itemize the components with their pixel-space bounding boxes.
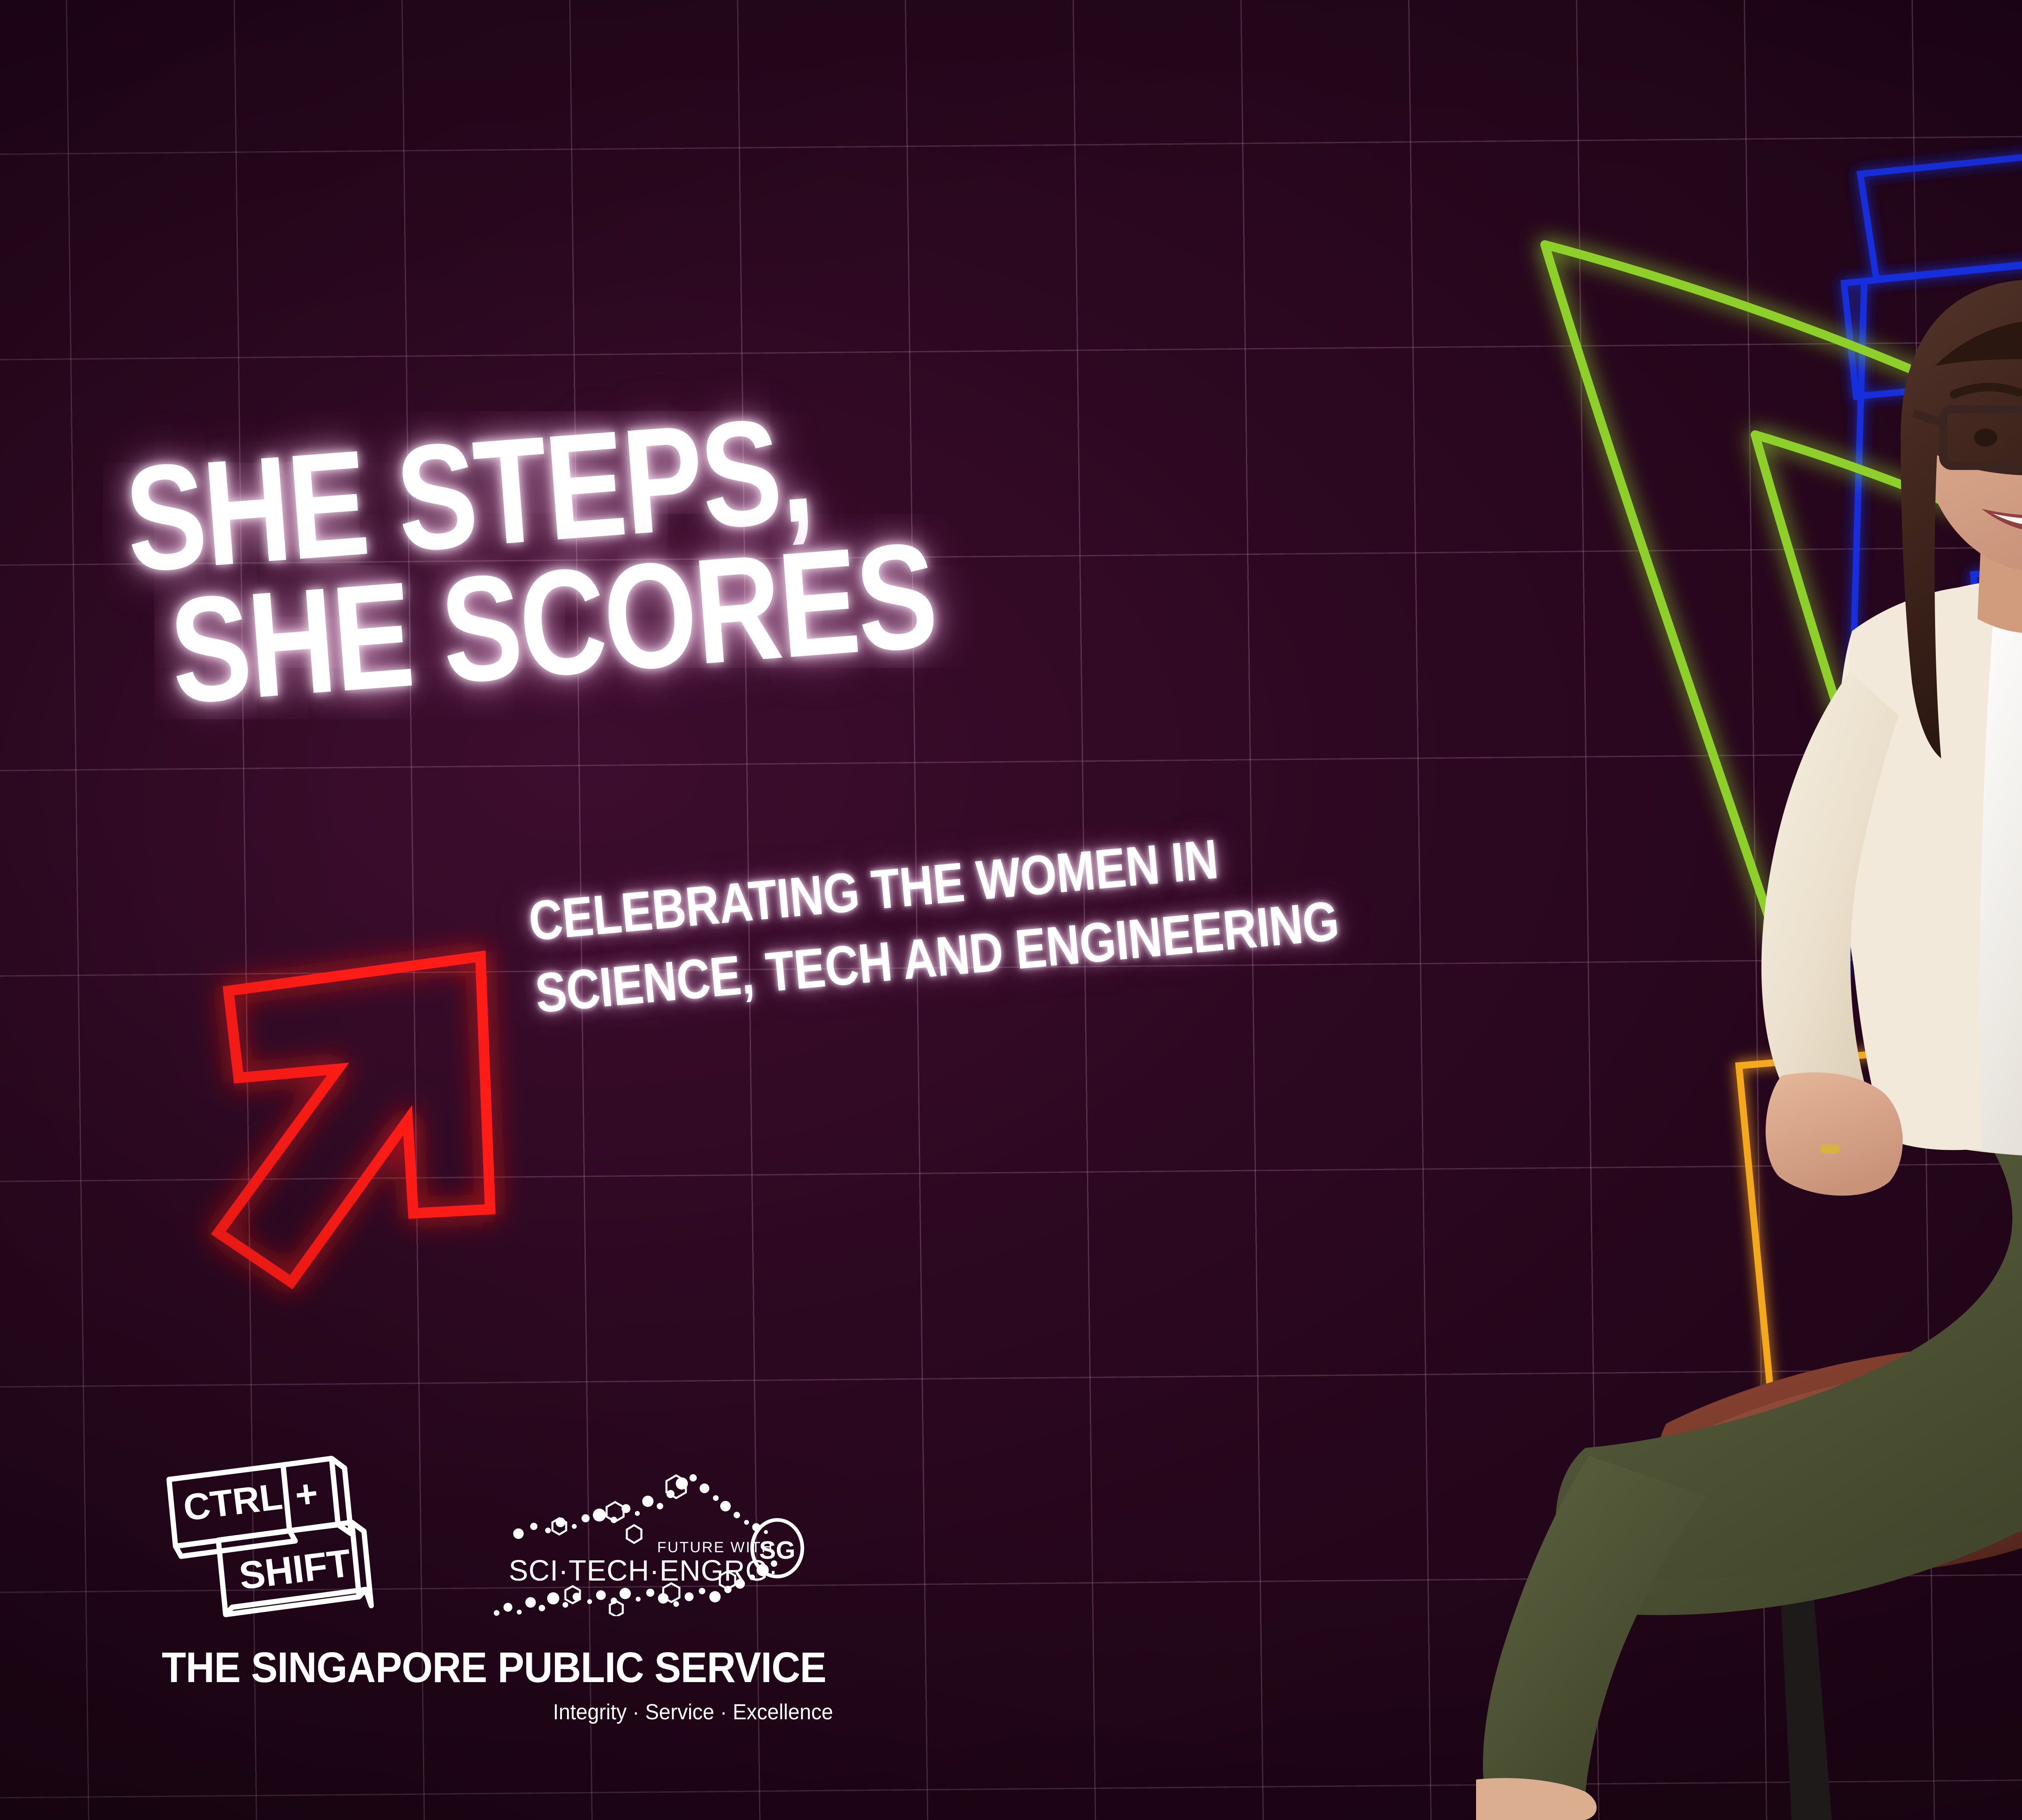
plus-key-label: +: [293, 1471, 321, 1517]
ctrl-shift-logo[interactable]: CTRL + SHIFT: [162, 1448, 388, 1618]
figure-seated-woman: [1476, 279, 2022, 1820]
singapore-public-service-logo[interactable]: THE SINGAPORE PUBLIC SERVICE Integrity ·…: [162, 1646, 833, 1725]
future-with-label: FUTURE WITH: [657, 1539, 774, 1555]
seated-ring-left: [1820, 1145, 1840, 1153]
sps-tagline: Integrity · Service · Excellence: [195, 1699, 833, 1725]
sci-tech-engrg-logo[interactable]: FUTURE WITH SCI·TECH·ENGRG· SG: [473, 1454, 821, 1616]
campaign-banner: SHE STEPS, SHE SCORES CELEBRATING THE WO…: [0, 0, 2022, 1820]
chair-leg-front: [1779, 1569, 1832, 1820]
photo-subjects: [1415, 0, 2022, 1820]
sps-name: THE SINGAPORE PUBLIC SERVICE: [162, 1646, 786, 1689]
shift-key-label: SHIFT: [237, 1541, 353, 1598]
hex-dot-pattern-top: [513, 1474, 768, 1543]
sg-badge-label: SG: [759, 1536, 795, 1564]
ctrl-key-label: CTRL: [181, 1476, 285, 1529]
seated-lower-leg: [1483, 1456, 1707, 1796]
logo-lockup: CTRL + SHIFT: [162, 1448, 833, 1725]
